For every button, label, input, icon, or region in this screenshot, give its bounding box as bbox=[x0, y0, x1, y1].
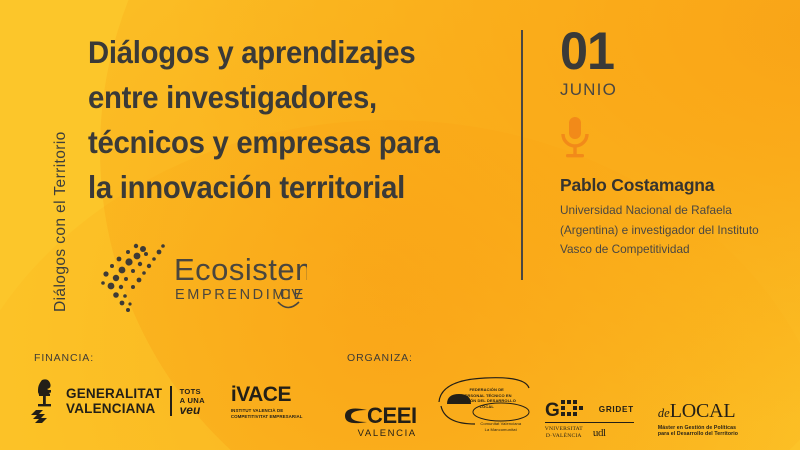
ceei-valencia-logo: CEEI VALENCIA bbox=[343, 403, 417, 439]
delocal-subtitle: Máster en Gestión de Políticas para el D… bbox=[658, 425, 738, 438]
delocal-wordmark: deLOCAL bbox=[658, 401, 738, 423]
delocal-prefix: de bbox=[658, 406, 670, 420]
generalitat-valenciana-logo: GENERALITAT VALENCIANA TOTS A UNA veu bbox=[30, 378, 205, 424]
tots-line-3: veu bbox=[180, 406, 205, 415]
ivace-logo: iVACE INSTITUT VALENCIÀ DE COMPETITIVITA… bbox=[231, 383, 303, 419]
headline-line-3: técnicos y empresas para bbox=[88, 120, 488, 165]
speaker-affiliation-line-2: (Argentina) e investigador del Instituto bbox=[560, 221, 775, 241]
ceei-wordmark: CEEI bbox=[367, 403, 417, 429]
headline: Diálogos y aprendizajes entre investigad… bbox=[88, 30, 518, 210]
financia-logos: GENERALITAT VALENCIANA TOTS A UNA veu iV… bbox=[30, 378, 303, 424]
ivace-wordmark: iVACE bbox=[231, 383, 291, 407]
microphone-icon bbox=[558, 116, 790, 165]
speaker-affiliation-line-3: Vasco de Competitividad bbox=[560, 240, 775, 260]
udl-wordmark: udl bbox=[593, 427, 606, 439]
delocal-name: LOCAL bbox=[670, 400, 736, 422]
headline-line-2: entre investigadores, bbox=[88, 75, 488, 120]
federacion-badge-text: Comunitat Valenciana La Mancomunitat bbox=[475, 421, 527, 432]
ivace-subtitle: INSTITUT VALENCIÀ DE COMPETITIVITAT EMPR… bbox=[231, 408, 303, 419]
ivace-subtitle-line-2: COMPETITIVITAT EMPRESARIAL bbox=[231, 414, 303, 419]
ceei-subtitle: VALENCIA bbox=[343, 428, 417, 439]
gridet-universitat-valencia-logo: G GRIDET VNIVERSITAT D·VALÈNCIA bbox=[545, 399, 634, 439]
generalitat-line-2: VALENCIANA bbox=[66, 401, 162, 417]
financia-label: FINANCIA: bbox=[34, 352, 94, 364]
ecosistema-region: CV bbox=[280, 287, 302, 303]
gridet-pixel-mark-icon: G bbox=[545, 399, 591, 419]
federacion-badge-line-2: La Mancomunitat bbox=[475, 427, 527, 433]
svg-text:G: G bbox=[545, 400, 560, 419]
organiza-logos: CEEI VALENCIA FEDERACIÓN DE PERSONAL TÉC… bbox=[343, 372, 738, 450]
delocal-subtitle-line-1: Máster en Gestión de Políticas bbox=[658, 425, 738, 432]
delocal-logo: deLOCAL Máster en Gestión de Políticas p… bbox=[658, 401, 738, 438]
ceei-ring-icon bbox=[343, 405, 369, 427]
headline-line-1: Diálogos y aprendizajes bbox=[88, 30, 488, 75]
universitat-valencia-text: VNIVERSITAT D·VALÈNCIA bbox=[545, 426, 583, 439]
tots-a-una-veu-slogan: TOTS A UNA veu bbox=[180, 387, 205, 416]
event-day: 01 bbox=[560, 26, 779, 78]
ecosistema-wordmark: Ecosistema bbox=[174, 252, 307, 287]
ecosistema-logo-svg: Ecosistema EMPRENDIMIENTO CV bbox=[92, 240, 307, 312]
ecosistema-logo: Ecosistema EMPRENDIMIENTO CV bbox=[92, 240, 307, 312]
vertical-divider bbox=[521, 30, 523, 280]
uv-line-1: VNIVERSITAT bbox=[545, 426, 583, 433]
gridet-wordmark: GRIDET bbox=[599, 405, 634, 414]
delocal-subtitle-line-2: para el Desarrollo del Territorio bbox=[658, 431, 738, 438]
federacion-personal-tecnico-logo: FEDERACIÓN DE PERSONAL TÉCNICO EN GESTIÓ… bbox=[435, 372, 531, 450]
event-month: JUNIO bbox=[560, 80, 790, 100]
poster-canvas: Diálogos con el Territorio Diálogos y ap… bbox=[0, 0, 800, 450]
series-vertical-label-text: Diálogos con el Territorio bbox=[52, 131, 70, 312]
speaker-affiliation: Universidad Nacional de Rafaela (Argenti… bbox=[560, 201, 775, 260]
organiza-label: ORGANIZA: bbox=[347, 352, 413, 364]
logo-separator bbox=[170, 386, 171, 416]
headline-line-4: la innovación territorial bbox=[88, 165, 488, 210]
federacion-arc-text: FEDERACIÓN DE PERSONAL TÉCNICO EN GESTIÓ… bbox=[451, 387, 523, 409]
federacion-arc-line-3: GESTIÓN DEL DESARROLLO LOCAL bbox=[451, 398, 523, 409]
event-details: 01 JUNIO Pablo Costamagna Universidad Na… bbox=[560, 26, 790, 260]
uv-line-2: D·VALÈNCIA bbox=[545, 433, 583, 440]
generalitat-crest-icon bbox=[30, 378, 60, 424]
series-vertical-label: Diálogos con el Territorio bbox=[32, 22, 58, 312]
speaker-affiliation-line-1: Universidad Nacional de Rafaela bbox=[560, 201, 775, 221]
speaker-name: Pablo Costamagna bbox=[560, 175, 790, 196]
generalitat-line-1: GENERALITAT bbox=[66, 386, 162, 402]
tots-line-1: TOTS bbox=[180, 387, 201, 396]
dotted-v-mark bbox=[101, 244, 165, 312]
